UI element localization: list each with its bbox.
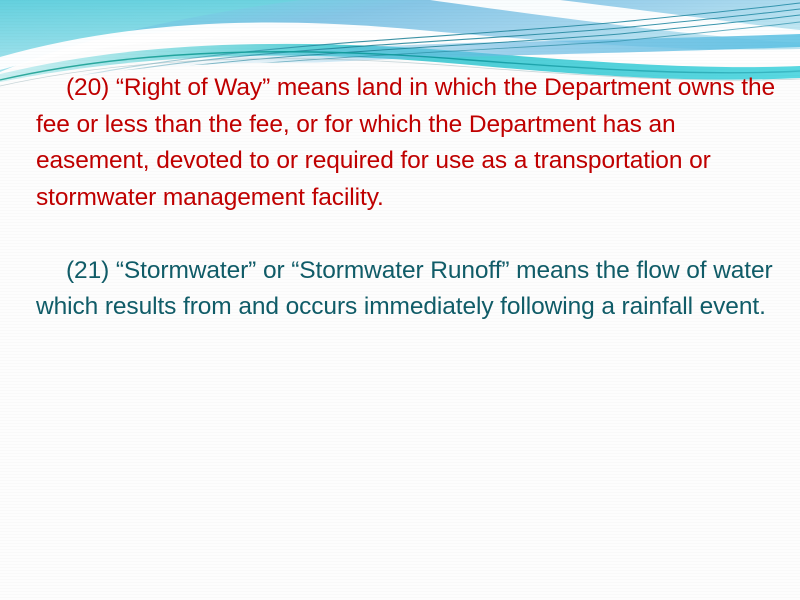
- slide-body-text: (20) “Right of Way” means land in which …: [36, 70, 776, 326]
- paragraph-definition-stormwater: (21) “Stormwater” or “Stormwater Runoff”…: [36, 253, 776, 326]
- paragraph-definition-right-of-way: (20) “Right of Way” means land in which …: [36, 70, 776, 216]
- presentation-slide: (20) “Right of Way” means land in which …: [0, 0, 800, 600]
